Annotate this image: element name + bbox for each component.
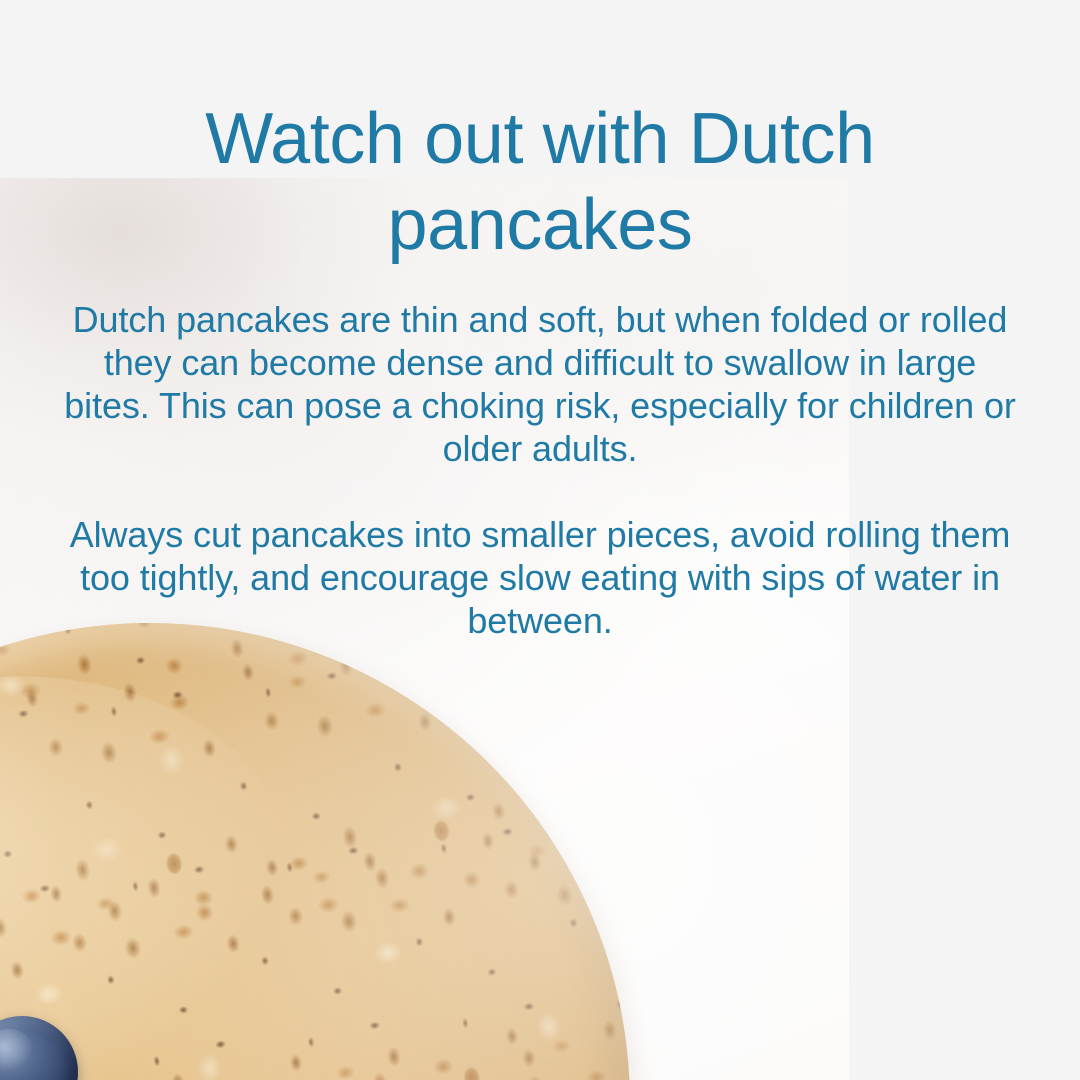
- dutch-pancake-crepe: [0, 568, 685, 1080]
- body-copy: Dutch pancakes are thin and soft, but wh…: [0, 268, 1080, 642]
- page-title: Watch out with Dutch pancakes: [0, 0, 1080, 268]
- crepe-highlight-layer: [0, 568, 685, 1080]
- poster-canvas: Watch out with Dutch pancakes Dutch panc…: [0, 0, 1080, 1080]
- body-paragraph-1: Dutch pancakes are thin and soft, but wh…: [62, 298, 1018, 470]
- body-paragraph-2: Always cut pancakes into smaller pieces,…: [62, 513, 1018, 642]
- text-content: Watch out with Dutch pancakes Dutch panc…: [0, 0, 1080, 642]
- blueberry-bloom: [0, 1029, 33, 1072]
